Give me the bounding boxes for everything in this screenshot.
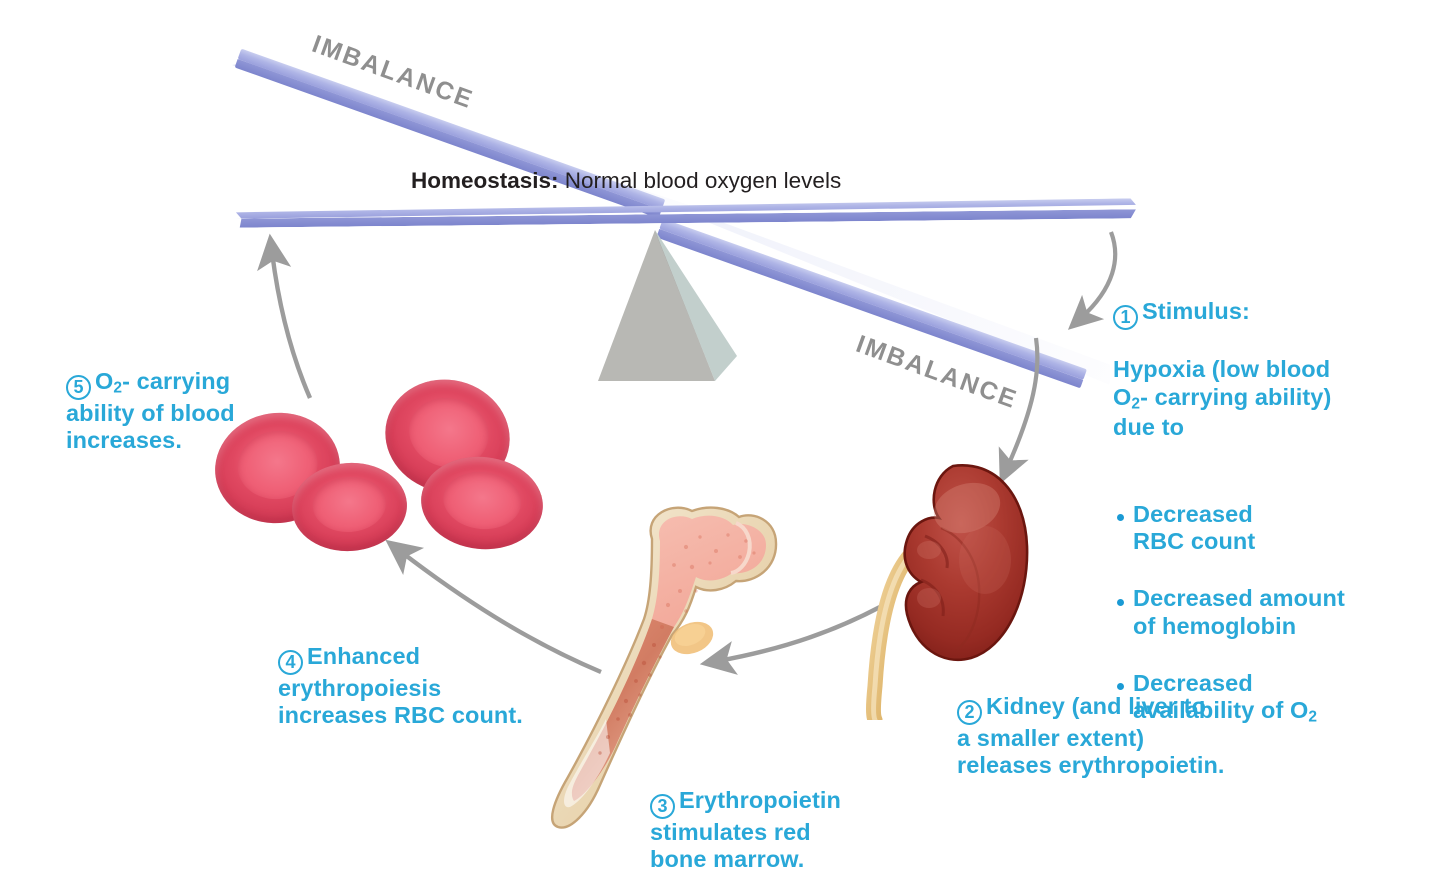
- step-number-badge: 3: [650, 794, 675, 819]
- bullet-item: Decreased amount of hemoglobin: [1113, 585, 1413, 640]
- callout-step-3: 3Erythropoietin stimulates red bone marr…: [650, 760, 950, 874]
- step-number-badge: 5: [66, 375, 91, 400]
- callout-step-4: 4Enhanced erythropoiesis increases RBC c…: [278, 616, 598, 730]
- step-1-body-text: Hypoxia (low blood O2- carrying ability)…: [1113, 356, 1331, 439]
- callout-step-1-heading: 1Stimulus:: [1113, 298, 1413, 330]
- homeostasis-label-bold: Homeostasis:: [411, 168, 559, 193]
- homeostasis-label-rest: Normal blood oxygen levels: [559, 168, 842, 193]
- bullet-item: Decreased RBC count: [1113, 501, 1413, 556]
- step-1-heading-text: Stimulus:: [1142, 298, 1250, 324]
- balance-beam-horizontal: [236, 198, 1136, 227]
- step-2-text: Kidney (and liver to a smaller extent) r…: [957, 693, 1225, 778]
- callout-step-2: 2Kidney (and liver to a smaller extent) …: [957, 666, 1327, 780]
- step-number-badge: 4: [278, 650, 303, 675]
- callout-step-5: 5O2- carrying ability of blood increases…: [66, 341, 316, 455]
- homeostasis-label: Homeostasis: Normal blood oxygen levels: [411, 168, 841, 194]
- arrow-balance-to-stimulus: [1081, 232, 1115, 318]
- step-number-badge: 1: [1113, 305, 1138, 330]
- step-5-text: O2- carrying ability of blood increases.: [66, 368, 235, 453]
- step-4-text: Enhanced erythropoiesis increases RBC co…: [278, 643, 523, 728]
- callout-step-1-body: Hypoxia (low blood O2- carrying ability)…: [1113, 356, 1413, 441]
- step-number-badge: 2: [957, 700, 982, 725]
- fulcrum-svg: [595, 228, 765, 388]
- fulcrum-triangle: [595, 228, 755, 383]
- diagram-canvas: IMBALANCE IMBALANCE Homeostasis: Normal …: [0, 0, 1440, 889]
- step-3-text: Erythropoietin stimulates red bone marro…: [650, 787, 841, 872]
